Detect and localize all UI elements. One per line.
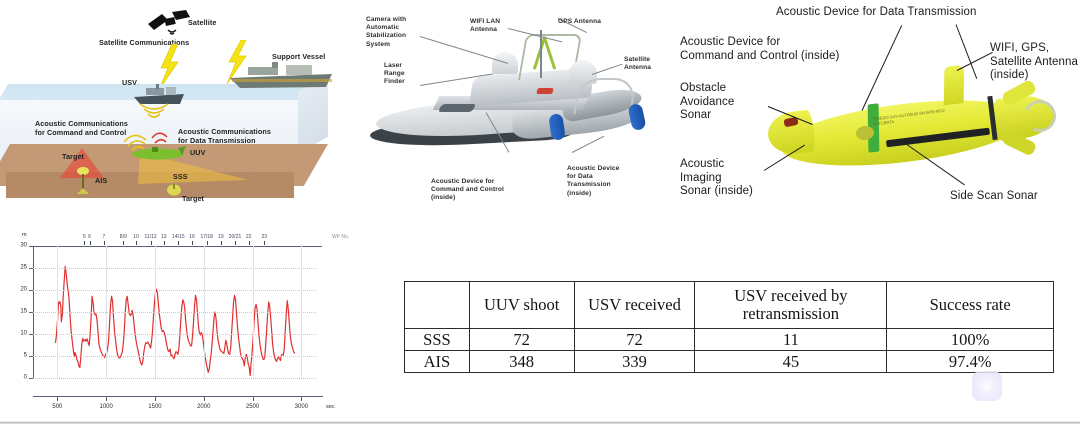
cell-uuv-shoot: 348: [469, 351, 574, 373]
usv-red-marker: [536, 88, 554, 94]
label-target-right: Target: [182, 194, 204, 203]
depth-profile-chart: m sec WP No. 051015202530 5678/91011/121…: [0, 224, 362, 424]
usv-photo-panel: Camera with Automatic Stabilization Syst…: [362, 0, 672, 220]
label-satellite: Satellite: [188, 18, 216, 27]
chart-waypoint-tick: [249, 241, 250, 245]
chart-y-tick-label: 25: [11, 265, 27, 271]
uuv-label-wifi-gps-satellite: WIFI, GPS, Satellite Antenna (inside): [990, 42, 1080, 83]
chart-waypoint-tick: [164, 241, 165, 245]
chart-y-tick-mark: [29, 268, 33, 269]
table-header: UUV shoot USV received USV received by r…: [405, 282, 1054, 329]
chart-gridline-v: [57, 246, 58, 378]
chart-waypoint-tick: [235, 241, 236, 245]
uuv-label-acoustic-dt: Acoustic Device for Data Transmission: [776, 6, 1076, 20]
chart-y-tick-mark: [29, 290, 33, 291]
chart-waypoint-tick: [90, 241, 91, 245]
chart-waypoint-label: 19: [218, 234, 224, 240]
uuv-vehicle-icon: [130, 146, 186, 162]
usv-bow-hatch: [438, 104, 477, 112]
chart-waypoint-label: 20/21: [229, 234, 242, 240]
th-uuv-shoot: UUV shoot: [469, 282, 574, 329]
chart-x-tick-label: 1500: [148, 404, 161, 410]
usv-label-laser-range-finder: Laser Range Finder: [384, 62, 405, 87]
results-table-container: UUV shoot USV received USV received by r…: [404, 281, 1054, 365]
chart-waypoint-tick: [136, 241, 137, 245]
cell-success-rate: 97.4%: [887, 351, 1054, 373]
cell-usv-retransmission: 45: [695, 351, 887, 373]
chart-waypoint-tick: [104, 241, 105, 245]
table-header-row: UUV shoot USV received USV received by r…: [405, 282, 1054, 329]
chart-waypoint-tick: [178, 241, 179, 245]
cell-row-label: SSS: [405, 329, 470, 351]
figure-page: Satellite Satellite Communications Suppo…: [0, 0, 1080, 429]
chart-x-tick-mark: [253, 396, 254, 401]
chart-waypoint-label: 23: [261, 234, 267, 240]
th-usv-retransmission: USV received by retransmission: [695, 282, 887, 329]
usv-label-camera: Camera with Automatic Stabilization Syst…: [366, 16, 406, 49]
cell-usv-retransmission: 11: [695, 329, 887, 351]
chart-waypoint-label: 22: [246, 234, 252, 240]
chart-x-tick-label: 2500: [246, 404, 259, 410]
label-support-vessel: Support Vessel: [272, 52, 325, 61]
chart-waypoint-tick: [207, 241, 208, 245]
bottom-divider: [0, 421, 1080, 424]
usv-label-acoustic-dt: Acoustic Device for Data Transmission (i…: [567, 165, 619, 198]
table-row: SSS 72 72 11 100%: [405, 329, 1054, 351]
chart-gridline-h: [33, 378, 316, 379]
chart-waypoint-tick: [84, 241, 85, 245]
label-sss: SSS: [173, 172, 188, 181]
label-acoustic-command-control: Acoustic Communications for Command and …: [35, 119, 128, 137]
chart-waypoint-label: 13: [161, 234, 167, 240]
usv-label-wifi-lan: WIFI LAN Antenna: [470, 18, 500, 34]
scenario-diagram-panel: Satellite Satellite Communications Suppo…: [0, 0, 362, 220]
label-uuv: UUV: [190, 148, 205, 157]
chart-waypoint-label: 16: [189, 234, 195, 240]
chart-y-tick-mark: [29, 334, 33, 335]
uuv-photo-panel: TEREDO UUV AUTOSUB SN 0455-9012 WATCBRTA…: [672, 0, 1080, 224]
th-success-rate: Success rate: [887, 282, 1054, 329]
chart-gridline-h: [33, 312, 316, 313]
th-blank: [405, 282, 470, 329]
chart-gridline-v: [301, 246, 302, 378]
leader-wifi-gps-sat: [957, 52, 993, 71]
uuv-label-imaging-sonar: Acoustic Imaging Sonar (inside): [680, 158, 810, 199]
chart-x-tick-mark: [106, 396, 107, 401]
chart-y-tick-mark: [29, 246, 33, 247]
chart-x-tick-label: 3000: [295, 404, 308, 410]
chart-gridline-h: [33, 268, 316, 269]
chart-waypoint-tick: [264, 241, 265, 245]
label-usv: USV: [122, 78, 137, 87]
chart-x-tick-label: 500: [52, 404, 62, 410]
chart-gridline-h: [33, 334, 316, 335]
chart-y-tick-label: 0: [11, 375, 27, 381]
usv-label-gps-antenna: GPS Antenna: [558, 18, 601, 26]
chart-x-unit: sec: [326, 404, 335, 410]
chart-waypoint-tick: [221, 241, 222, 245]
cell-uuv-shoot: 72: [469, 329, 574, 351]
chart-waypoint-label: 6: [88, 234, 91, 240]
chart-gridline-v: [253, 246, 254, 378]
target-mine-right-icon: [166, 182, 182, 196]
table-row: AIS 348 339 45 97.4%: [405, 351, 1054, 373]
chart-waypoint-tick: [123, 241, 124, 245]
chart-wp-axis-label: WP No.: [332, 234, 349, 240]
chart-x-tick-mark: [155, 396, 156, 401]
cell-usv-received: 339: [574, 351, 695, 373]
cell-row-label: AIS: [405, 351, 470, 373]
chart-x-tick-label: 1000: [100, 404, 113, 410]
chart-y-tick-label: 5: [11, 353, 27, 359]
usv-acoustic-waves-icon: [132, 102, 176, 124]
chart-x-tick-mark: [204, 396, 205, 401]
chart-waypoint-label: 8/9: [120, 234, 127, 240]
chart-y-tick-mark: [29, 378, 33, 379]
uuv-sail-antenna: [944, 65, 965, 106]
chart-waypoint-label: 10: [133, 234, 139, 240]
target-mine-left-icon: [74, 166, 92, 196]
chart-x-axis: [33, 396, 323, 397]
results-table: UUV shoot USV received USV received by r…: [404, 281, 1054, 373]
table-body: SSS 72 72 11 100% AIS 348 339 45 97.4%: [405, 329, 1054, 373]
chart-y-unit: m: [22, 232, 27, 238]
leader-camera: [420, 36, 508, 64]
watermark-badge-icon: [972, 371, 1002, 401]
uuv-label-side-scan-sonar: Side Scan Sonar: [950, 190, 1080, 204]
chart-x-tick-mark: [57, 396, 58, 401]
chart-series-svg: [34, 247, 317, 379]
cell-success-rate: 100%: [887, 329, 1054, 351]
usv-label-satellite-antenna: Satellite Antenna: [624, 56, 651, 72]
chart-gridline-v: [155, 246, 156, 378]
chart-waypoint-label: 7: [102, 234, 105, 240]
chart-waypoint-label: 14/15: [172, 234, 185, 240]
chart-x-tick-label: 2000: [197, 404, 210, 410]
chart-waypoint-label: 5: [83, 234, 86, 240]
chart-gridline-v: [106, 246, 107, 378]
label-target-left: Target: [62, 152, 84, 161]
leader-acoustic-dt: [572, 136, 605, 153]
support-vessel-icon: [228, 60, 338, 92]
chart-series-line: [55, 266, 295, 375]
usv-label-acoustic-cc: Acoustic Device for Command and Control …: [431, 178, 504, 203]
cell-usv-received: 72: [574, 329, 695, 351]
chart-waypoint-label: 17/18: [200, 234, 213, 240]
chart-gridline-h: [33, 290, 316, 291]
chart-gridline-h: [33, 356, 316, 357]
chart-waypoint-label: 11/12: [145, 234, 157, 240]
uuv-label-acoustic-cc: Acoustic Device for Command and Control …: [680, 36, 930, 63]
label-acoustic-data-transmission: Acoustic Communications for Data Transmi…: [178, 127, 271, 145]
chart-x-tick-mark: [301, 396, 302, 401]
uuv-label-obstacle-sonar: Obstacle Avoidance Sonar: [680, 82, 790, 123]
chart-waypoint-tick: [151, 241, 152, 245]
chart-y-tick-mark: [29, 356, 33, 357]
th-usv-received: USV received: [574, 282, 695, 329]
chart-y-tick-mark: [29, 312, 33, 313]
chart-y-tick-label: 15: [11, 309, 27, 315]
chart-gridline-v: [204, 246, 205, 378]
chart-y-tick-label: 10: [11, 331, 27, 337]
chart-waypoint-tick: [192, 241, 193, 245]
chart-y-tick-label: 30: [11, 243, 27, 249]
label-ais: AIS: [95, 176, 107, 185]
usv-fender-rear: [627, 103, 646, 131]
chart-y-tick-label: 20: [11, 287, 27, 293]
